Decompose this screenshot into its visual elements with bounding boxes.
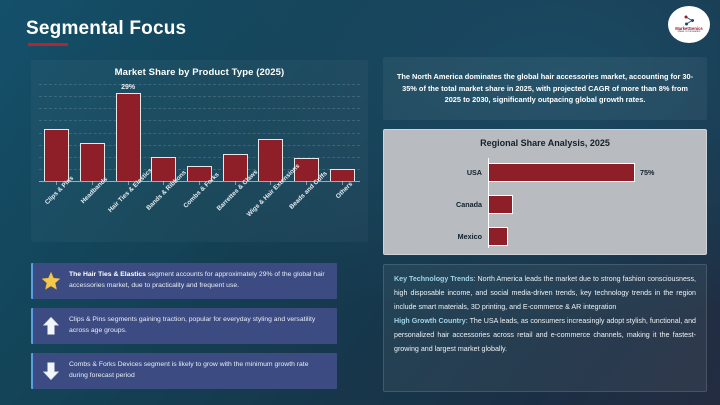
category-label-slot: Wigs & Hair Extensions <box>254 186 288 236</box>
high-growth-country-paragraph: High Growth Country: The USA leads, as c… <box>394 315 696 356</box>
category-label-slot: Combs & Forks <box>183 186 217 236</box>
axis-tick <box>342 181 343 185</box>
regional-bar-label: Mexico <box>384 232 488 241</box>
key-technology-trends-paragraph: Key Technology Trends: North America lea… <box>394 273 696 314</box>
insight-box-combs-forks[interactable]: Combs & Forks Devices segment is likely … <box>31 353 337 389</box>
network-nodes-icon <box>683 15 696 26</box>
product-type-bars: 29% <box>39 84 360 181</box>
regional-bar <box>488 163 635 182</box>
regional-bar-row: USA75% <box>384 156 706 188</box>
regional-bar-label: USA <box>384 168 488 177</box>
regional-bar-row: Mexico <box>384 220 706 252</box>
bar <box>80 143 105 181</box>
axis-tick <box>199 181 200 185</box>
insight-text: The Hair Ties & Elastics segment account… <box>69 270 328 291</box>
category-label-slot: Beads and Cuffs <box>290 186 324 236</box>
north-america-statement-box: The North America dominates the global h… <box>383 57 707 120</box>
axis-tick <box>235 181 236 185</box>
category-label-slot: Others <box>325 186 359 236</box>
key-technology-trends-label: Key Technology Trends <box>394 275 474 283</box>
bar-slot <box>40 84 74 181</box>
bar-value-label: 29% <box>121 84 135 91</box>
y-axis-line <box>488 158 489 248</box>
category-label-slot: Headbands <box>76 186 110 236</box>
title-underline <box>28 43 68 46</box>
axis-tick <box>128 181 129 185</box>
bar-slot <box>147 84 181 181</box>
arrow-down-icon <box>40 360 62 382</box>
axis-tick <box>92 181 93 185</box>
trends-text-box: Key Technology Trends: North America lea… <box>383 264 707 392</box>
bar-slot: 29% <box>111 84 145 181</box>
insight-box-hair-ties[interactable]: The Hair Ties & Elastics segment account… <box>31 263 337 299</box>
bar <box>151 157 176 181</box>
product-type-chart-card: Market Share by Product Type (2025) 29% … <box>31 60 368 242</box>
bar <box>223 154 248 181</box>
bar <box>44 129 69 181</box>
slide-root: Segmental Focus MarketGenics Ideas, to I… <box>0 0 720 405</box>
regional-bar-row: Canada <box>384 188 706 220</box>
insight-box-clips-pins[interactable]: Clips & Pins segments gaining traction, … <box>31 308 337 344</box>
x-axis-category-labels: Clips & PinsHeadbandsHair Ties & Elastic… <box>39 186 360 236</box>
high-growth-country-label: High Growth Country <box>394 317 466 325</box>
bar-slot <box>325 84 359 181</box>
category-label-slot: Clips & Pins <box>40 186 74 236</box>
regional-bar-label: Canada <box>384 200 488 209</box>
axis-tick <box>56 181 57 185</box>
axis-tick <box>306 181 307 185</box>
company-logo: MarketGenics Ideas, to Innovation <box>668 6 710 43</box>
axis-tick <box>270 181 271 185</box>
regional-bar <box>488 195 513 214</box>
bar-slot <box>183 84 217 181</box>
bar-slot <box>218 84 252 181</box>
insight-text: Combs & Forks Devices segment is likely … <box>69 360 328 381</box>
regional-share-chart-card: Regional Share Analysis, 2025 USA75%Cana… <box>383 129 707 255</box>
arrow-up-icon <box>40 315 62 337</box>
insight-text: Clips & Pins segments gaining traction, … <box>69 315 328 336</box>
product-type-chart-title: Market Share by Product Type (2025) <box>31 60 368 78</box>
category-label-slot: Bands & Ribbons <box>147 186 181 236</box>
regional-bar-value: 75% <box>640 168 654 177</box>
regional-share-bars: USA75%CanadaMexico <box>384 156 706 252</box>
category-label-slot: Hair Ties & Elastics <box>111 186 145 236</box>
regional-share-chart-title: Regional Share Analysis, 2025 <box>384 130 706 148</box>
north-america-statement: The North America dominates the global h… <box>395 71 695 107</box>
regional-bar <box>488 227 508 246</box>
bar <box>330 169 355 181</box>
bar-slot <box>254 84 288 181</box>
product-type-plot-area: 29% <box>39 84 360 181</box>
star-icon <box>40 270 62 292</box>
axis-tick <box>163 181 164 185</box>
page-title: Segmental Focus <box>26 18 186 40</box>
insight-body: Combs & Forks Devices segment is likely … <box>69 361 308 379</box>
insight-body: Clips & Pins segments gaining traction, … <box>69 316 315 334</box>
logo-tagline: Ideas, to Innovation <box>678 31 701 34</box>
bar <box>258 139 283 181</box>
bar-slot <box>76 84 110 181</box>
bar <box>116 93 141 181</box>
insight-bold: The Hair Ties & Elastics <box>69 271 146 278</box>
